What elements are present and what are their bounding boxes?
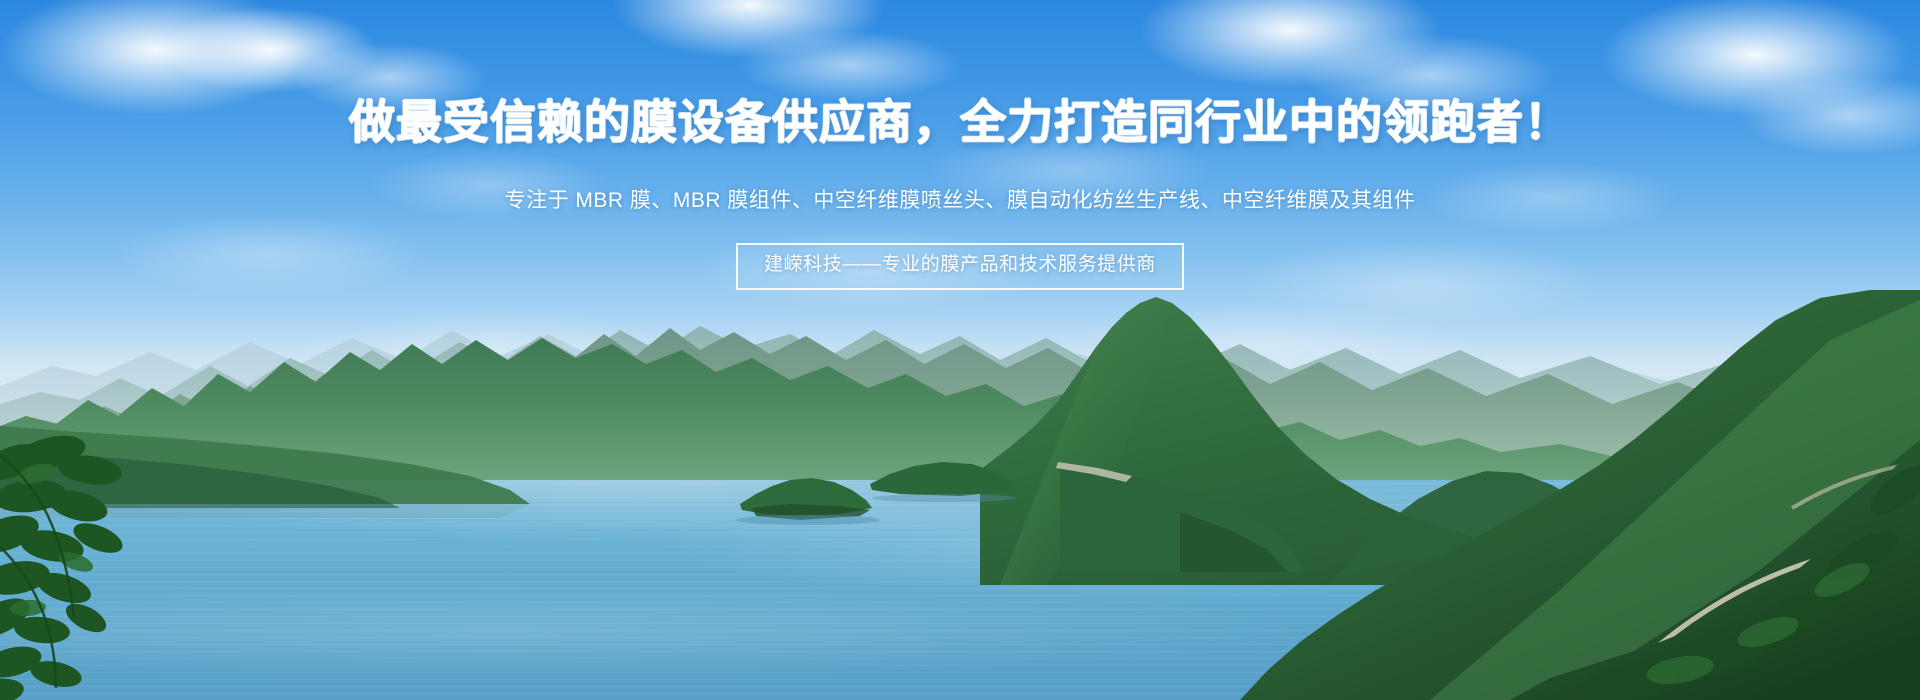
banner-subtitle: 专注于 MBR 膜、MBR 膜组件、中空纤维膜喷丝头、膜自动化纺丝生产线、中空纤…: [0, 186, 1920, 215]
banner-headline: 做最受信赖的膜设备供应商，全力打造同行业中的领跑者！: [0, 98, 1920, 146]
banner-tagline-wrap: 建嵘科技——专业的膜产品和技术服务提供商: [0, 243, 1920, 290]
banner-tagline-box: 建嵘科技——专业的膜产品和技术服务提供商: [736, 243, 1184, 290]
foreground-foliage-left: [0, 430, 200, 700]
foreground-foliage-right: [1450, 370, 1920, 700]
hero-banner: 做最受信赖的膜设备供应商，全力打造同行业中的领跑者！ 专注于 MBR 膜、MBR…: [0, 0, 1920, 700]
